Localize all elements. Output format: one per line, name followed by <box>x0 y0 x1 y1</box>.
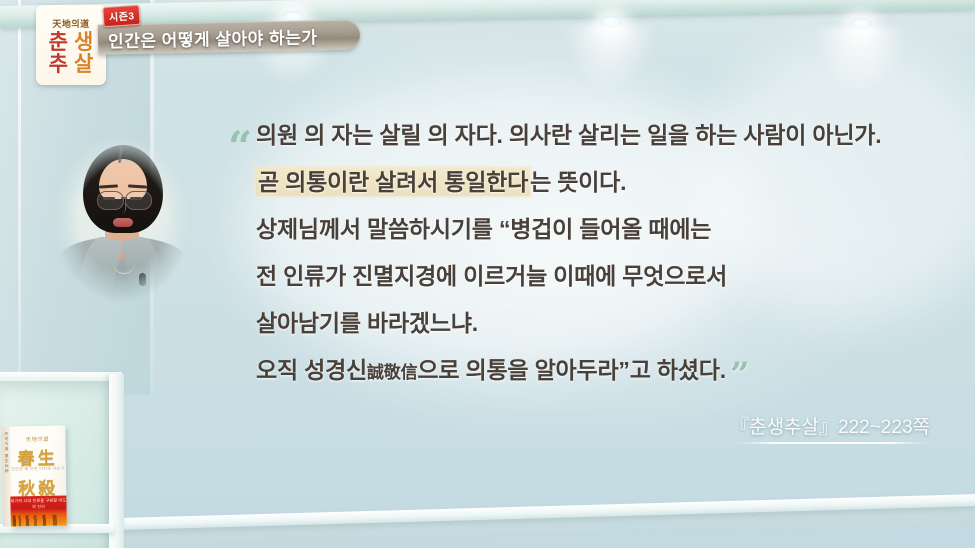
broadcast-frame: 天地의道 春生秋殺 天地의道 春生 인간은 왜 이런 이치로 사는가 秋殺 위기… <box>0 0 975 548</box>
nose <box>120 203 126 213</box>
niche-frame-top <box>0 372 122 381</box>
episode-title: 인간은 어떻게 살아야 하는가 <box>108 23 318 52</box>
wall-seam <box>18 0 21 392</box>
mouth <box>113 218 133 227</box>
quote-line-final: 오직 성경신誠敬信으로 의통을 알아두라”고 하셨다.” <box>228 347 958 396</box>
quote-open-mark: “ <box>228 126 252 168</box>
shelf-niche: 天地의道 春生秋殺 天地의道 春生 인간은 왜 이런 이치로 사는가 秋殺 위기… <box>0 378 122 548</box>
season-badge: 시즌3 <box>102 5 141 28</box>
book-cover: 天地의道 春生秋殺 天地의道 春生 인간은 왜 이런 이치로 사는가 秋殺 위기… <box>9 426 67 527</box>
quote-block: “ 의원 의 자는 살릴 의 자다. 의사란 살리는 일을 하는 사람이 아닌가… <box>228 112 958 396</box>
presenter-portrait <box>47 133 197 303</box>
quote-line: 상제님께서 말씀하시기를 “병겁이 들어올 때에는 <box>228 206 958 253</box>
eyeglass-bridge <box>121 197 127 199</box>
logo-char-1: 춘 <box>49 32 68 54</box>
book-band-graphic <box>13 515 65 527</box>
program-logo: 天地의道 춘 생 추 살 <box>36 5 106 85</box>
quote-line: 의원 의 자는 살릴 의 자다. 의사란 살리는 일을 하는 사람이 아닌가. <box>228 112 958 159</box>
source-citation: 『춘생추살』222~223쪽 <box>730 412 930 439</box>
book-subtitle: 인간은 왜 이런 이치로 사는가 <box>10 466 66 473</box>
book-top-text: 天地의道 <box>9 435 65 444</box>
hanja-annotation: 誠敬信 <box>367 363 417 382</box>
logo-top-text: 天地의道 <box>52 17 89 30</box>
logo-row-1: 춘 생 <box>49 32 94 54</box>
logo-char-4: 살 <box>74 54 93 76</box>
final-line-pre: 오직 성경신 <box>256 357 367 383</box>
quote-line: 전 인류가 진멸지경에 이르거늘 이때에 무엇으로서 <box>228 253 958 300</box>
lapel-microphone-icon <box>139 273 146 286</box>
book-obi-band: 위기의 시대 인류를 구원할 대도의 진리 <box>10 496 67 527</box>
quote-line-tail: 는 뜻이다. <box>530 169 626 195</box>
citation-underline <box>734 442 930 444</box>
logo-char-3: 추 <box>49 54 68 76</box>
quote-line-highlighted: 곧 의통이란 살려서 통일한다는 뜻이다. <box>228 159 958 206</box>
niche-frame-right <box>109 374 124 548</box>
book-band-text: 위기의 시대 인류를 구원할 대도의 진리 <box>10 498 66 511</box>
quote-line: 살아남기를 바라겠느냐. <box>228 300 958 347</box>
logo-row-2: 추 살 <box>49 54 94 76</box>
eyeglass-lens-right <box>125 191 152 210</box>
logo-char-2: 생 <box>74 32 93 54</box>
highlighted-phrase: 곧 의통이란 살려서 통일한다 <box>256 168 530 196</box>
final-line-post: 으로 의통을 알아두라”고 하셨다. <box>417 357 726 383</box>
